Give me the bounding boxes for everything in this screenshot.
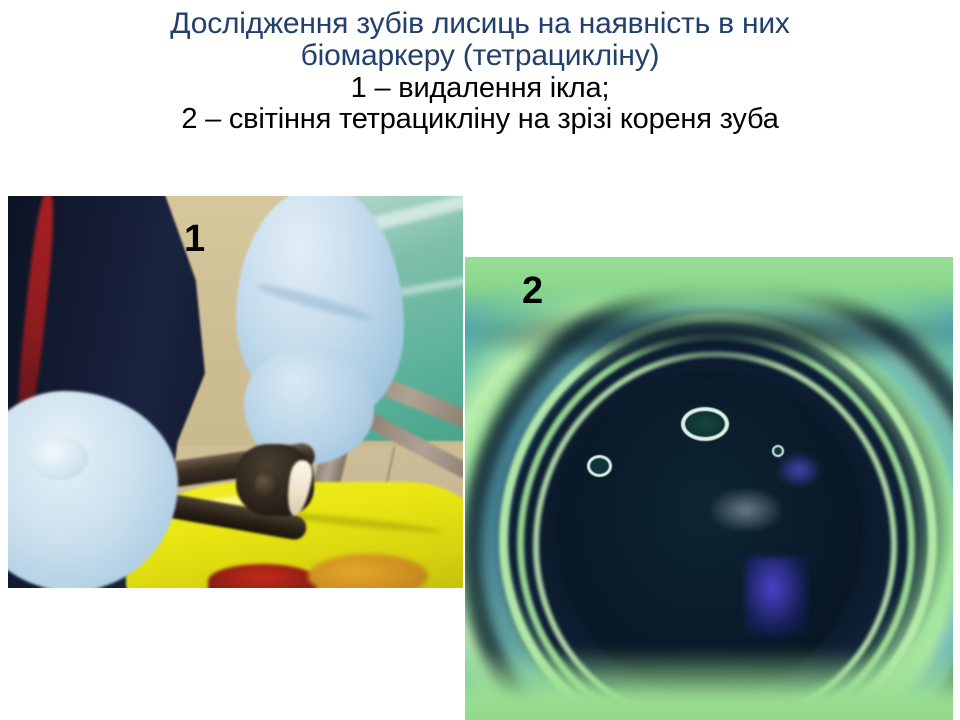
photo2-bottom-glow-band [465,649,953,720]
title-line-2: біомаркеру (тетрацикліну) [0,40,960,72]
photo2-root-canal-ring [772,445,784,457]
photo2-violet-fleck [745,557,807,635]
photo1-left-glove-finger [30,436,88,480]
slide-canvas: Дослідження зубів лисиць на наявність в … [0,0,960,720]
photo2-dark-band [465,305,953,367]
figure-label-1: 1 [184,220,205,258]
photo1-forceps-pivot [254,472,280,498]
title-block: Дослідження зубів лисиць на наявність в … [0,8,960,135]
title-line-1: Дослідження зубів лисиць на наявність в … [0,8,960,40]
caption-line-1: 1 – видалення ікла; [0,73,960,104]
photo2-violet-fleck [711,489,781,531]
tooth-extraction-photo [8,196,463,588]
tetracycline-fluorescence-photo [465,257,953,720]
photo2-root-canal-ring [681,407,729,441]
caption-line-2: 2 – світіння тетрацикліну на зрізі корен… [0,104,960,135]
figure-label-2: 2 [522,272,543,310]
photo2-violet-fleck [777,453,821,487]
photo2-root-canal-ring [587,455,612,477]
